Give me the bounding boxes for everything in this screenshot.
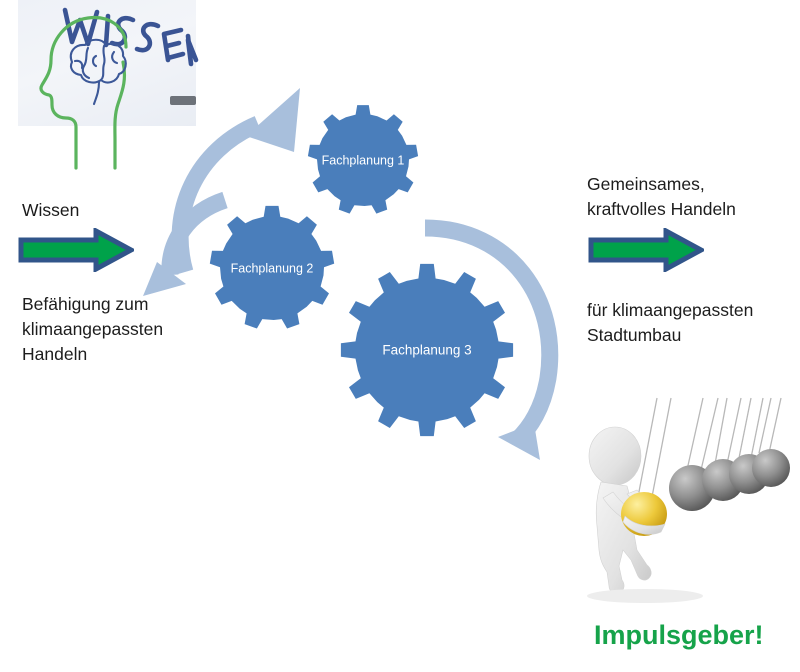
pendulum-figure-icon (575, 398, 785, 603)
green-arrow-right-icon (588, 228, 704, 272)
gear-1-label: Fachplanung 1 (322, 153, 405, 167)
green-arrow-right (588, 228, 704, 272)
newtons-cradle-illustration (575, 398, 785, 598)
gear-fachplanung-3: Fachplanung 3 (341, 264, 513, 436)
impulsgeber-label: Impulsgeber! (594, 620, 800, 651)
gear-fachplanung-1: Fachplanung 1 (308, 105, 418, 214)
gear-2-label: Fachplanung 2 (231, 261, 314, 275)
figure-shadow (587, 589, 703, 603)
gear-fachplanung-2: Fachplanung 2 (210, 206, 334, 329)
fuer-klima-caption: für klimaangepassten Stadtumbau (587, 298, 800, 348)
diagram-canvas: Wissen Befähigung zum klimaangepassten H… (0, 0, 800, 672)
gear-3-label: Fachplanung 3 (382, 343, 471, 358)
gemeinsames-heading: Gemeinsames, kraftvolles Handeln (587, 172, 800, 222)
steel-balls (669, 449, 790, 511)
